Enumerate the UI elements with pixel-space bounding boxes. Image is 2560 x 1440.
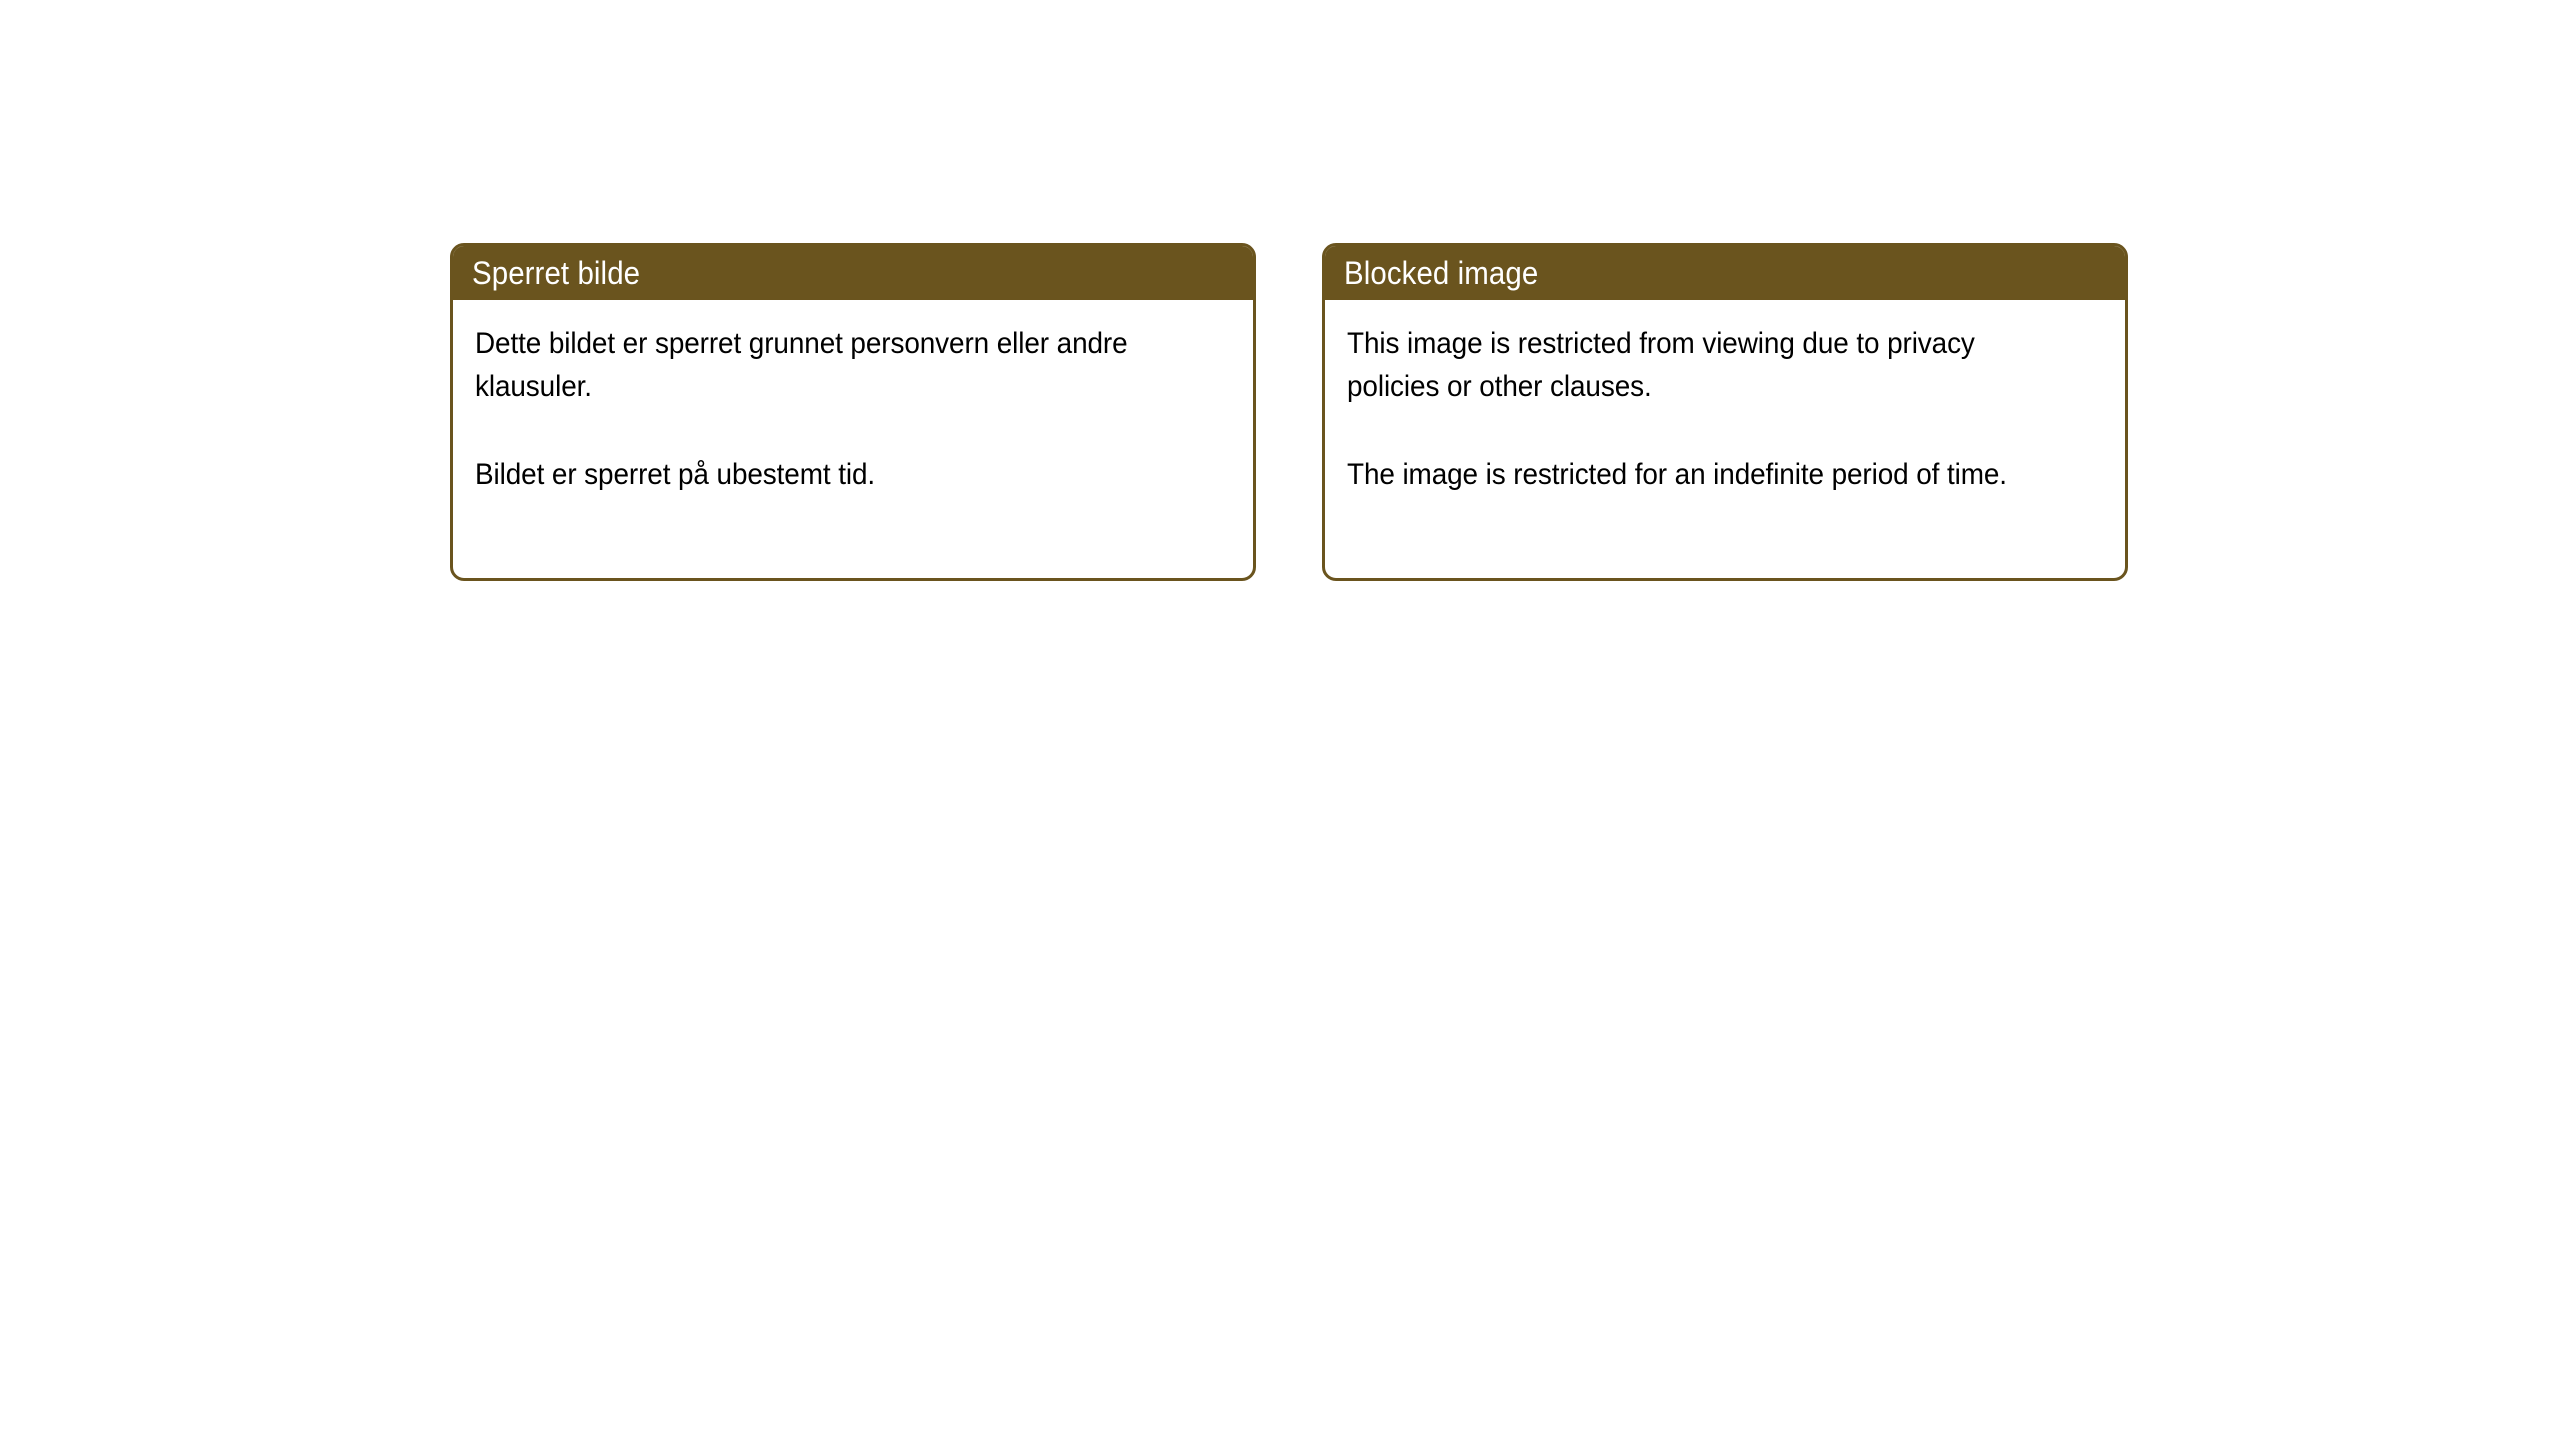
panel-paragraph-reason-english: This image is restricted from viewing du… [1347,322,2052,408]
panel-paragraph-duration-norwegian: Bildet er sperret på ubestemt tid. [475,453,1180,496]
page-root: Sperret bilde Dette bildet er sperret gr… [0,0,2560,1440]
panel-title-english: Blocked image [1344,255,1538,291]
panel-header-english: Blocked image [1324,245,2126,300]
blocked-image-notice-norwegian: Sperret bilde Dette bildet er sperret gr… [450,243,1256,581]
panel-title-norwegian: Sperret bilde [472,255,640,291]
panel-header-norwegian: Sperret bilde [452,245,1254,300]
panel-paragraph-reason-norwegian: Dette bildet er sperret grunnet personve… [475,322,1180,408]
panel-body-norwegian: Dette bildet er sperret grunnet personve… [453,300,1253,516]
panel-paragraph-duration-english: The image is restricted for an indefinit… [1347,453,2052,496]
blocked-image-notice-english: Blocked image This image is restricted f… [1322,243,2128,581]
panel-body-english: This image is restricted from viewing du… [1325,300,2125,516]
